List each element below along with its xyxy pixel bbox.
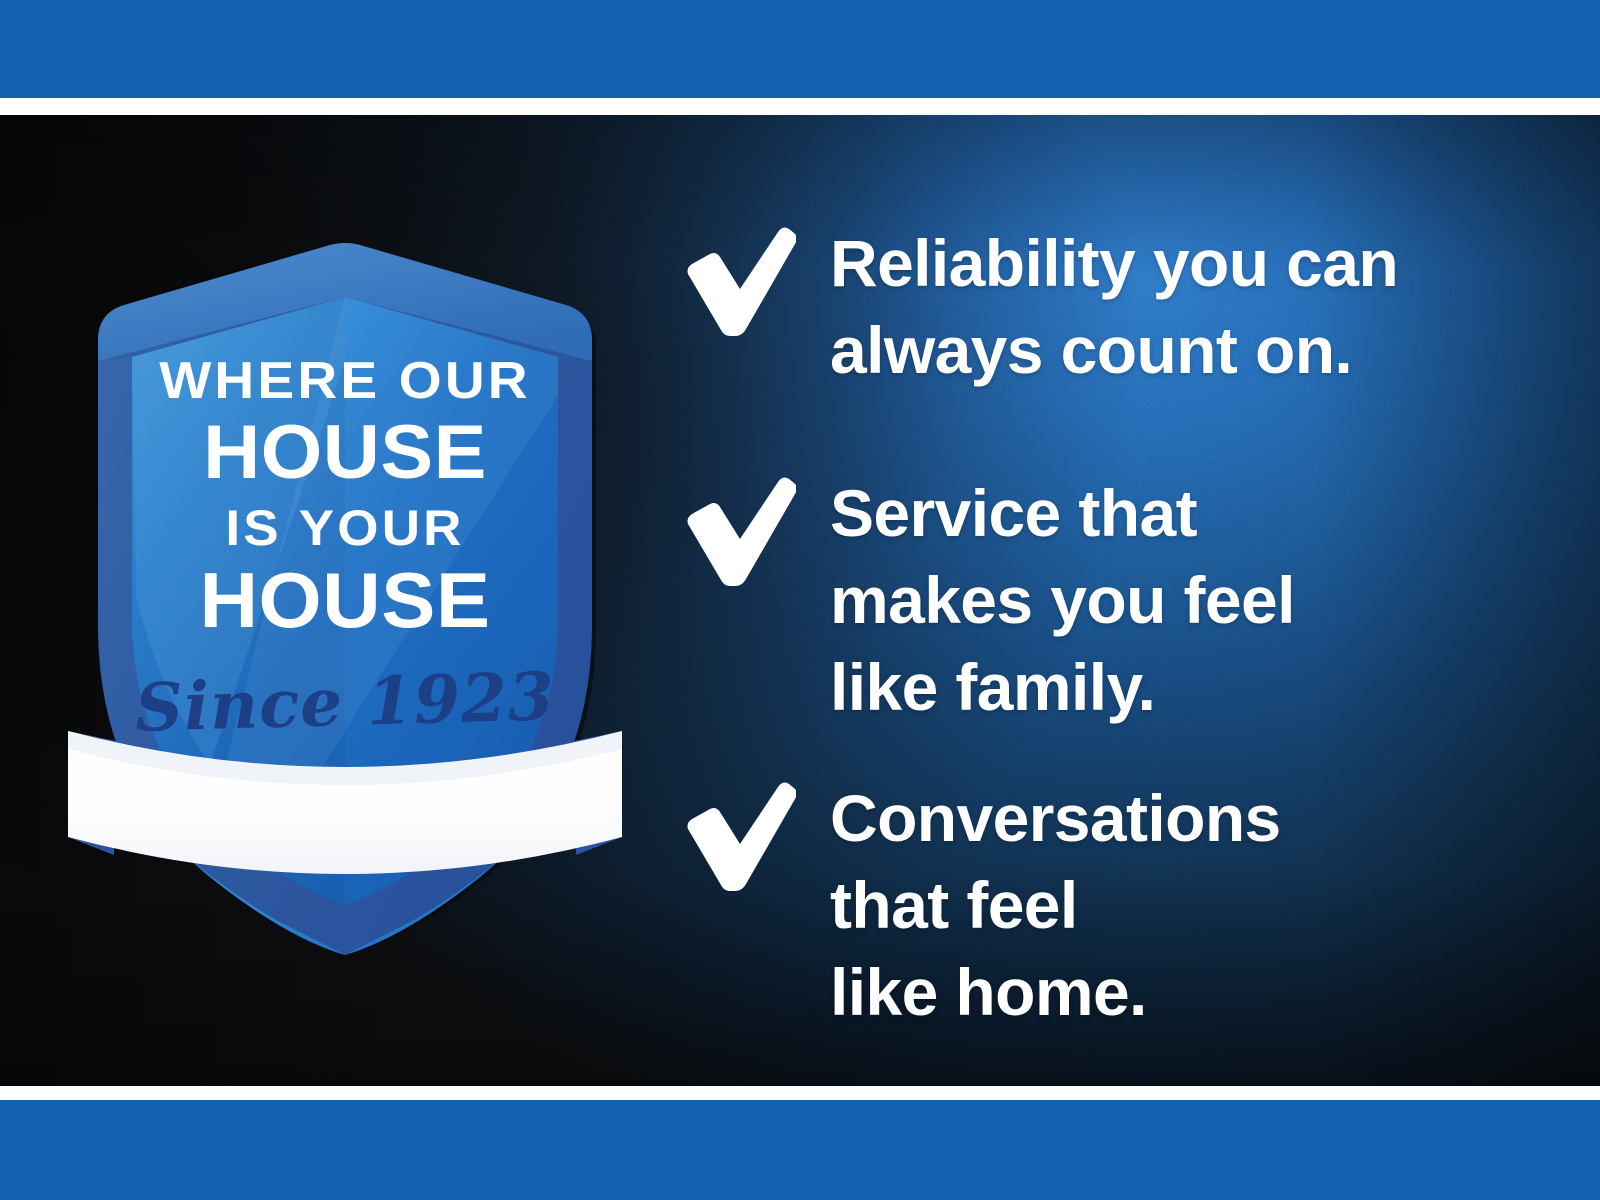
checkmark-icon [680, 781, 796, 897]
benefit-text: Service that makes you feel like family. [830, 470, 1550, 731]
checkmark-icon [680, 476, 796, 592]
benefit-line: Service that [830, 470, 1550, 557]
checkmark-icon [680, 226, 796, 342]
benefit-line: like family. [830, 644, 1550, 731]
benefit-line: like home. [830, 949, 1550, 1036]
top-brand-bar [0, 0, 1600, 98]
benefit-text: Conversations that feel like home. [830, 775, 1550, 1036]
top-white-divider [0, 98, 1600, 115]
benefit-line: always count on. [830, 307, 1550, 394]
benefit-line: Conversations [830, 775, 1550, 862]
benefit-line: that feel [830, 862, 1550, 949]
benefit-line: Reliability you can [830, 220, 1550, 307]
bottom-white-divider [0, 1086, 1600, 1100]
benefit-text: Reliability you can always count on. [830, 220, 1550, 394]
benefit-line: makes you feel [830, 557, 1550, 644]
bottom-brand-bar [0, 1100, 1600, 1200]
shield-badge-icon [60, 165, 630, 955]
promotional-poster: WHERE OUR HOUSE IS YOUR HOUSE Since 1923… [0, 0, 1600, 1200]
company-shield-logo: WHERE OUR HOUSE IS YOUR HOUSE Since 1923 [60, 165, 630, 955]
benefits-list: Reliability you can always count on. Ser… [660, 115, 1560, 1086]
